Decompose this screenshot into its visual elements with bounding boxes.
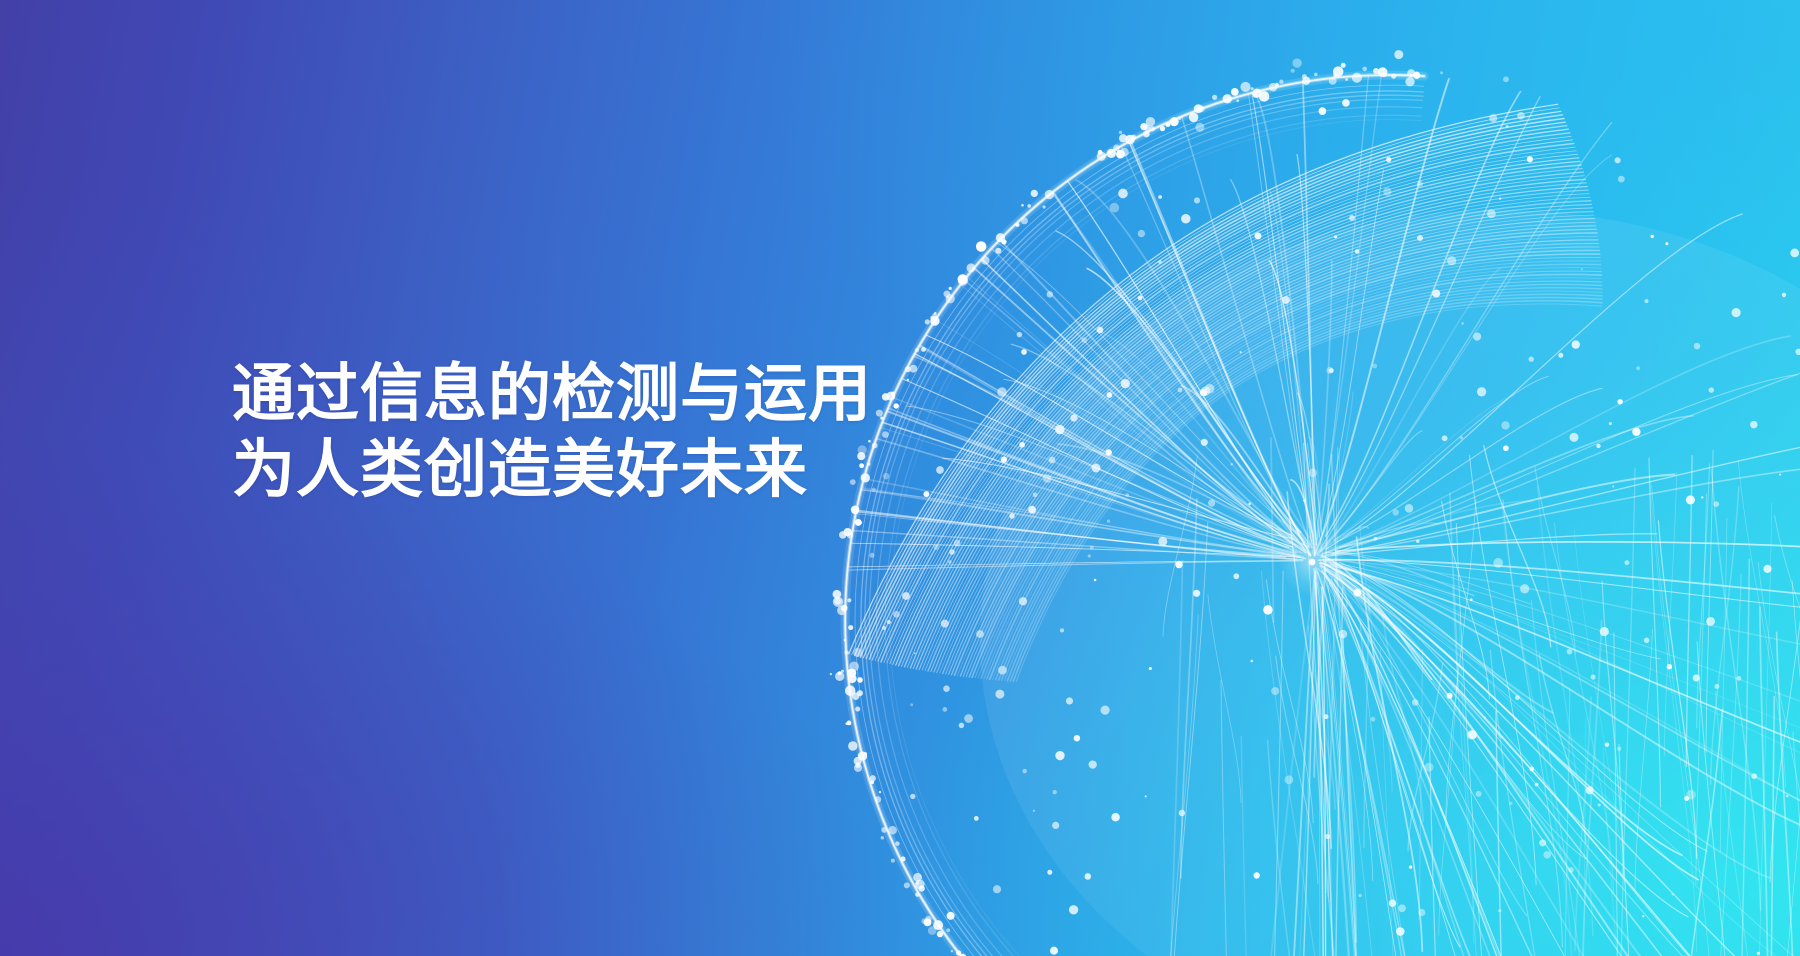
hero-banner: 通过信息的检测与运用 为人类创造美好未来: [0, 0, 1800, 956]
headline-line-1: 通过信息的检测与运用: [232, 360, 872, 428]
headline: 通过信息的检测与运用 为人类创造美好未来: [232, 360, 872, 504]
headline-line-2: 为人类创造美好未来: [232, 436, 872, 504]
